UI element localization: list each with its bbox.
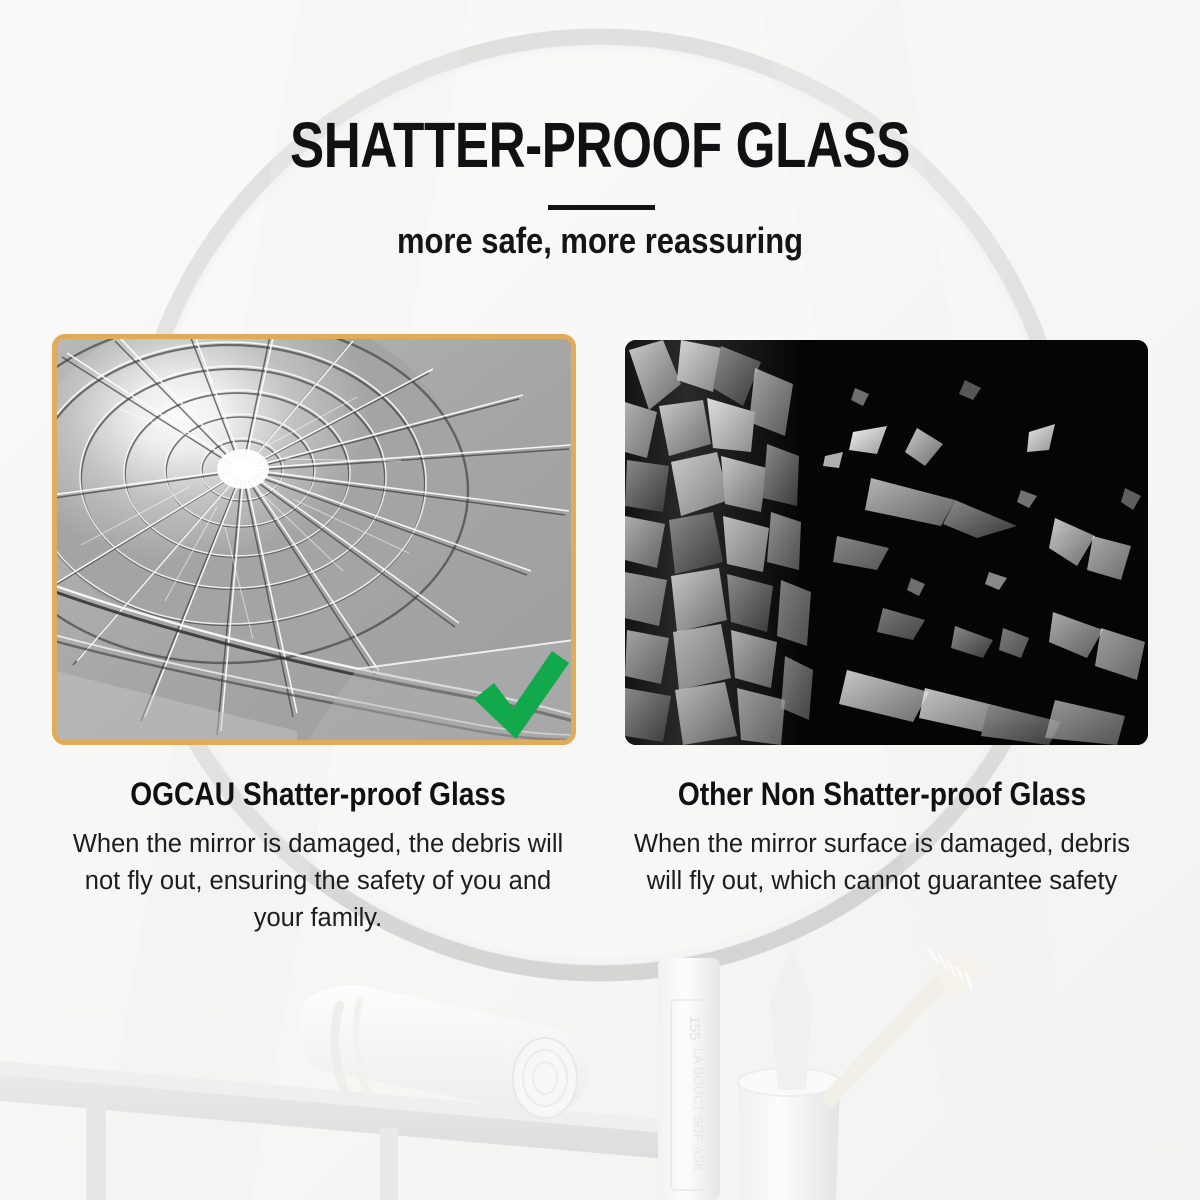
caption-body-non-shatterproof: When the mirror surface is damaged, debr… (612, 826, 1152, 900)
title-divider (548, 205, 655, 210)
non-shatterproof-glass-panel (625, 340, 1148, 745)
caption-shatterproof: OGCAU Shatter-proof Glass When the mirro… (48, 775, 588, 937)
caption-title-non-shatterproof: Other Non Shatter-proof Glass (644, 775, 1119, 813)
page-subtitle: more safe, more reassuring (84, 219, 1116, 263)
caption-body-shatterproof: When the mirror is damaged, the debris w… (48, 826, 588, 937)
page-title: SHATTER-PROOF GLASS (120, 110, 1080, 180)
check-mark-icon (468, 645, 573, 745)
shattered-glass-image (625, 340, 1148, 745)
caption-title-shatterproof: OGCAU Shatter-proof Glass (80, 775, 555, 813)
caption-non-shatterproof: Other Non Shatter-proof Glass When the m… (612, 775, 1152, 900)
